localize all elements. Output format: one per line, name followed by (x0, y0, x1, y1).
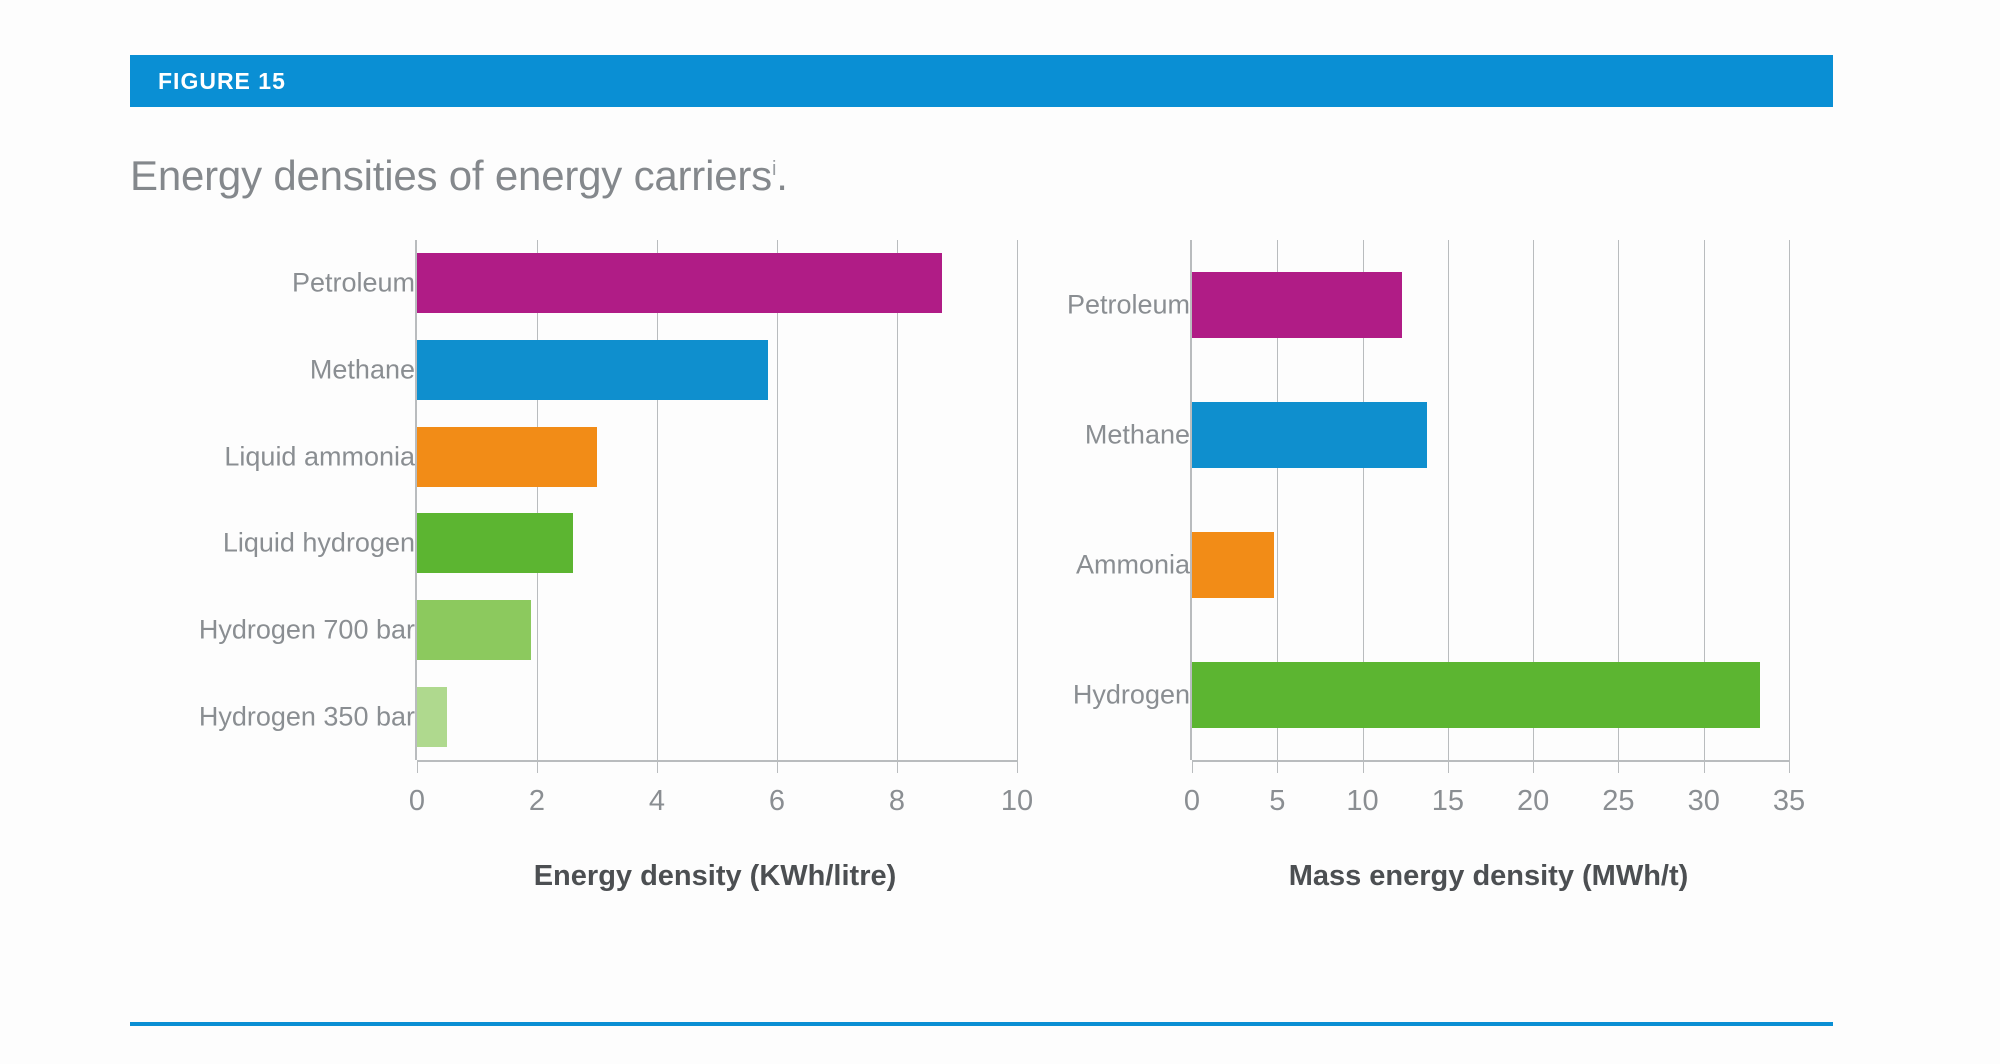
category-label: Petroleum (1067, 290, 1190, 321)
gridline (897, 240, 898, 760)
x-axis-tick-label: 10 (1001, 785, 1033, 818)
bar (1192, 402, 1427, 468)
gridline (657, 240, 658, 760)
gridline (777, 240, 778, 760)
category-label: Liquid ammonia (224, 441, 415, 472)
charts-container: PetroleumMethaneLiquid ammoniaLiquid hyd… (0, 240, 2000, 940)
x-axis-tick-label: 30 (1688, 785, 1720, 818)
x-axis-tick-label: 0 (1184, 785, 1200, 818)
bar (417, 253, 942, 313)
category-label: Liquid hydrogen (223, 528, 415, 559)
figure-title-period: . (776, 152, 787, 199)
x-axis-tick-label: 6 (769, 785, 785, 818)
x-axis-tick-label: 5 (1269, 785, 1285, 818)
plot-area-left: 0246810 (415, 240, 1017, 760)
figure-number-label: FIGURE 15 (158, 68, 286, 95)
x-axis-tick-label: 25 (1602, 785, 1634, 818)
bar (417, 427, 597, 487)
x-axis-title-left: Energy density (KWh/litre) (415, 860, 1015, 893)
x-axis-tick (1789, 760, 1790, 773)
x-axis-title-right: Mass energy density (MWh/t) (1190, 860, 1787, 893)
category-label: Hydrogen (1073, 680, 1190, 711)
bar (417, 340, 768, 400)
category-label: Hydrogen 700 bar (199, 615, 415, 646)
bar (1192, 662, 1760, 728)
x-axis-tick-label: 0 (409, 785, 425, 818)
x-axis-tick-label: 20 (1517, 785, 1549, 818)
category-label: Petroleum (292, 268, 415, 299)
figure-number-band: FIGURE 15 (130, 55, 1833, 107)
category-label: Ammonia (1076, 550, 1190, 581)
figure-title: Energy densities of energy carriersi. (130, 152, 788, 200)
x-axis-tick-label: 35 (1773, 785, 1805, 818)
x-axis-tick (1017, 760, 1018, 773)
x-axis-tick-label: 2 (529, 785, 545, 818)
figure-page: FIGURE 15 Energy densities of energy car… (0, 0, 2000, 1064)
x-axis-tick-label: 8 (889, 785, 905, 818)
bar (417, 600, 531, 660)
gridline (537, 240, 538, 760)
x-axis-line (417, 760, 1017, 762)
footer-rule (130, 1022, 1833, 1026)
x-axis-tick-label: 15 (1432, 785, 1464, 818)
x-axis-tick-label: 10 (1346, 785, 1378, 818)
bar (417, 513, 573, 573)
bar (417, 687, 447, 747)
category-label: Methane (1085, 420, 1190, 451)
gridline (1789, 240, 1790, 760)
category-label: Methane (310, 355, 415, 386)
figure-title-text: Energy densities of energy carriers (130, 152, 772, 199)
x-axis-line (1192, 760, 1789, 762)
bar (1192, 272, 1402, 338)
category-labels-left: PetroleumMethaneLiquid ammoniaLiquid hyd… (130, 240, 415, 760)
bar (1192, 532, 1274, 598)
plot-area-right: 05101520253035 (1190, 240, 1789, 760)
x-axis-tick-label: 4 (649, 785, 665, 818)
category-labels-right: PetroleumMethaneAmmoniaHydrogen (1015, 240, 1190, 760)
category-label: Hydrogen 350 bar (199, 701, 415, 732)
